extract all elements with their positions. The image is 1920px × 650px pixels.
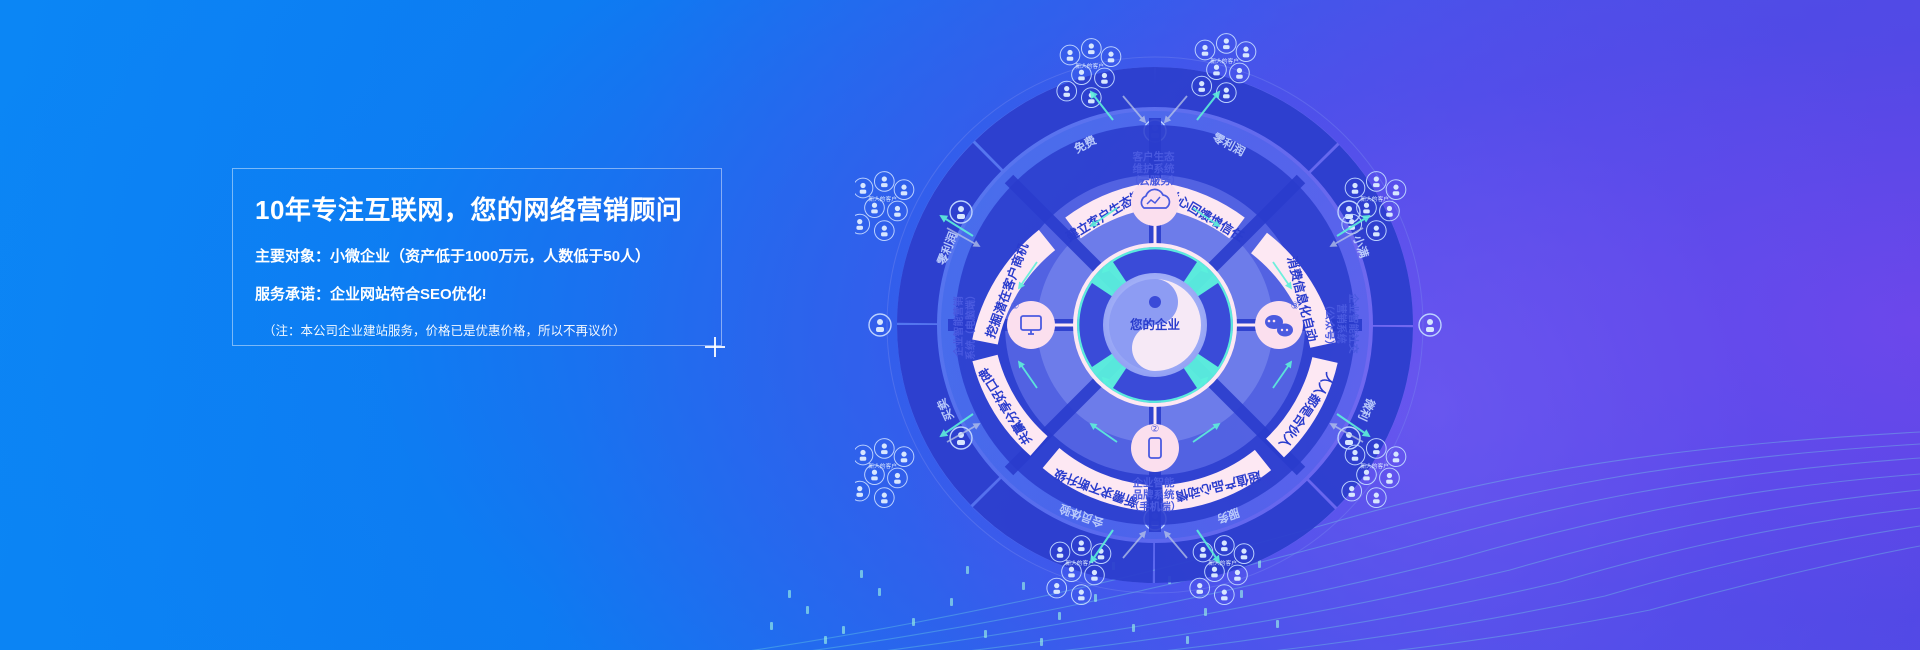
node-pc-marketing[interactable]: ① (1007, 301, 1055, 349)
svg-text:企业智能 品牌系统 （手机端）: 企业智能 品牌系统 （手机端） (1129, 476, 1182, 513)
ecosystem-wheel-svg: 建立客户生态链 关心回馈增信任 消费信息化自动 人人都是合伙人 超值产品心动情 … (855, 0, 1455, 650)
target-audience-line: 主要对象：小微企业（资产低于1000万元，人数低于50人） (255, 248, 721, 266)
satellite-label: 新人的客户 (1208, 559, 1237, 567)
node-social-marketing[interactable]: ③ (1255, 301, 1303, 349)
price-note: （注：本公司企业建站服务，价格已是优惠价格，所以不再议价） (255, 324, 721, 339)
satellite-label: 新人的客户 (1210, 57, 1239, 65)
satellite-label: 新人的客户 (868, 195, 897, 203)
promo-text-panel: 10年专注互联网，您的网络营销顾问 主要对象：小微企业（资产低于1000万元，人… (232, 168, 722, 346)
node-mobile-brand[interactable]: ② (1131, 424, 1179, 472)
page-title: 10年专注互联网，您的网络营销顾问 (255, 195, 721, 226)
satellite-label: 新人的客户 (1065, 559, 1094, 567)
svg-text:企业智能营销 系统（电脑端）: 企业智能营销 系统（电脑端） (952, 290, 977, 360)
satellite-label: 新人的客户 (868, 462, 897, 470)
node-number-3: ③ (1291, 301, 1300, 312)
crosshair-marker (705, 337, 725, 357)
satellite-label: 新人的客户 (1360, 462, 1389, 470)
satellite-label: 新人的客户 (1075, 62, 1104, 70)
center-label: 您的企业 (1130, 317, 1181, 332)
ecosystem-wheel-diagram: 建立客户生态链 关心回馈增信任 消费信息化自动 人人都是合伙人 超值产品心动情 … (855, 0, 1455, 650)
svg-text:客户生态 维护系统 （云服务）: 客户生态 维护系统 （云服务） (1129, 150, 1182, 187)
satellite-label: 新人的客户 (1360, 195, 1389, 203)
node-number-1: ① (1011, 301, 1020, 312)
service-promise-line: 服务承诺：企业网站符合SEO优化! (255, 286, 721, 304)
node-number-2: ② (1151, 424, 1160, 435)
